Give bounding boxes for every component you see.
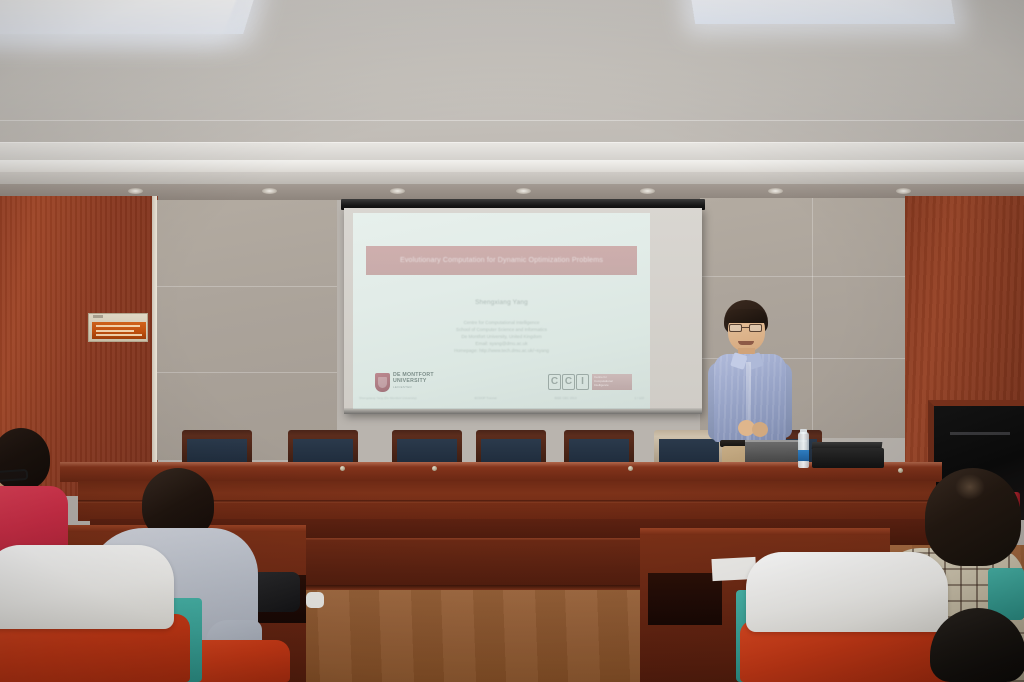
slide-footer: Shengxiang Yang (De Montfort University)…: [353, 393, 650, 402]
footer-center: ECDOP Tutorial: [475, 396, 497, 400]
slide-title-bar: Evolutionary Computation for Dynamic Opt…: [366, 246, 637, 275]
lecture-room-photo: Evolutionary Computation for Dynamic Opt…: [0, 0, 1024, 682]
cci-letter: C: [548, 374, 561, 390]
slide-author: Shengxiang Yang: [353, 299, 650, 306]
affiliation-line: Centre for Computational Intelligence: [353, 319, 650, 326]
seat-headrest-cover: [746, 552, 948, 632]
laptop: [812, 448, 884, 468]
presenter-fringe: [725, 309, 767, 323]
cornice-step-1: [0, 142, 1024, 160]
downlight-icon: [516, 188, 531, 194]
wall-sign-text-area: [92, 322, 146, 339]
cci-letter: I: [576, 374, 589, 390]
affiliation-line: Email: syang@dmu.ac.uk: [353, 340, 650, 347]
hair-highlight: [955, 474, 985, 500]
dmu-logo-line2: UNIVERSITY: [393, 379, 434, 385]
affiliation-line: Homepage: http://www.tech.dmu.ac.uk/~sya…: [353, 347, 650, 354]
projection-screen: Evolutionary Computation for Dynamic Opt…: [344, 208, 702, 414]
projected-slide: Evolutionary Computation for Dynamic Opt…: [353, 213, 650, 409]
table-knob-icon: [340, 466, 345, 471]
downlight-icon: [896, 188, 911, 194]
downlight-icon: [640, 188, 655, 194]
table-knob-icon: [898, 468, 903, 473]
ceiling-light-right: [689, 0, 955, 24]
dmu-logo-line3: LEICESTER: [393, 385, 434, 391]
cci-letter: C: [562, 374, 575, 390]
slide-affiliation: Centre for Computational Intelligence Sc…: [353, 319, 650, 354]
footer-page: 1 / 120: [635, 396, 644, 400]
downlight-icon: [768, 188, 783, 194]
seat-headrest-cover: [0, 545, 174, 629]
cci-tag-line3: Intelligence: [594, 384, 632, 387]
footer-right: IEEE CEC 2013: [554, 396, 576, 400]
cci-logo: C C I Centre for Computational Intellige…: [548, 372, 632, 392]
de-montfort-university-logo: DE MONTFORT UNIVERSITY LEICESTER: [375, 370, 451, 394]
stage-floor: [290, 590, 650, 682]
cornice-step-2: [0, 160, 1024, 172]
conference-chair: [564, 430, 634, 466]
audience-desk-right-top: [640, 528, 890, 535]
table-knob-icon: [432, 466, 437, 471]
affiliation-line: School of Computer Science and Informati…: [353, 326, 650, 333]
conference-chair: [288, 430, 358, 466]
downlight-icon: [262, 188, 277, 194]
conference-chair: [476, 430, 546, 466]
dmu-crest-icon: [375, 373, 390, 392]
affiliation-line: De Montfort University, United Kingdom: [353, 333, 650, 340]
wall-sign-plaque: [88, 313, 148, 342]
tissue-paper: [306, 592, 324, 608]
wall-sign-cap: [93, 315, 103, 318]
table-sheen: [60, 462, 942, 467]
ceiling-light-left-glow: [0, 0, 237, 34]
conference-chair: [392, 430, 462, 466]
screen-bottom-shadow: [344, 408, 702, 414]
glasses-icon: [729, 324, 764, 332]
downlight-icon: [390, 188, 405, 194]
presenter-smile: [738, 341, 754, 345]
wall-panel-center: [157, 200, 337, 460]
ceiling-seam: [0, 120, 1024, 121]
footer-left: Shengxiang Yang (De Montfort University): [359, 396, 417, 400]
table-knob-icon: [628, 466, 633, 471]
desk-cavity: [648, 573, 722, 625]
presenter-hand: [752, 422, 768, 437]
recess-highlight: [950, 432, 1010, 435]
bottle-label: [798, 450, 809, 461]
slide-title: Evolutionary Computation for Dynamic Opt…: [371, 256, 633, 266]
downlight-icon: [128, 188, 143, 194]
conference-chair: [182, 430, 252, 466]
